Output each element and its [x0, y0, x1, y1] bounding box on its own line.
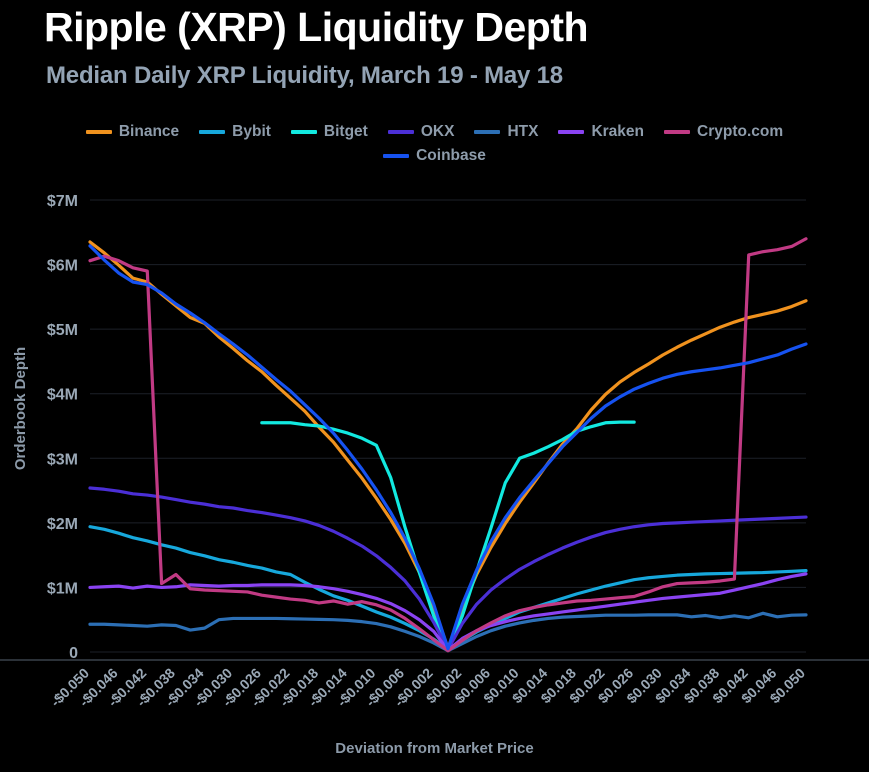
x-axis-title: Deviation from Market Price: [0, 740, 869, 757]
series-line-okx: [90, 488, 806, 649]
y-axis-title: Orderbook Depth: [12, 347, 29, 470]
y-tick-label: $6M: [47, 258, 78, 275]
plot-svg: $7M$6M$5M$4M$3M$2M$1M0-$0.050-$0.046-$0.…: [0, 0, 869, 772]
y-tick-label: $1M: [47, 580, 78, 597]
y-tick-label: $2M: [47, 516, 78, 533]
y-tick-label: $7M: [47, 193, 78, 210]
plot-area: $7M$6M$5M$4M$3M$2M$1M0-$0.050-$0.046-$0.…: [0, 0, 869, 772]
y-tick-label: $3M: [47, 451, 78, 468]
series-line-crypto-com: [90, 239, 806, 651]
chart-card: Ripple (XRP) Liquidity Depth Median Dail…: [0, 0, 869, 772]
y-tick-label: $5M: [47, 322, 78, 339]
series-line-kraken: [90, 574, 806, 650]
y-tick-label: $4M: [47, 387, 78, 404]
